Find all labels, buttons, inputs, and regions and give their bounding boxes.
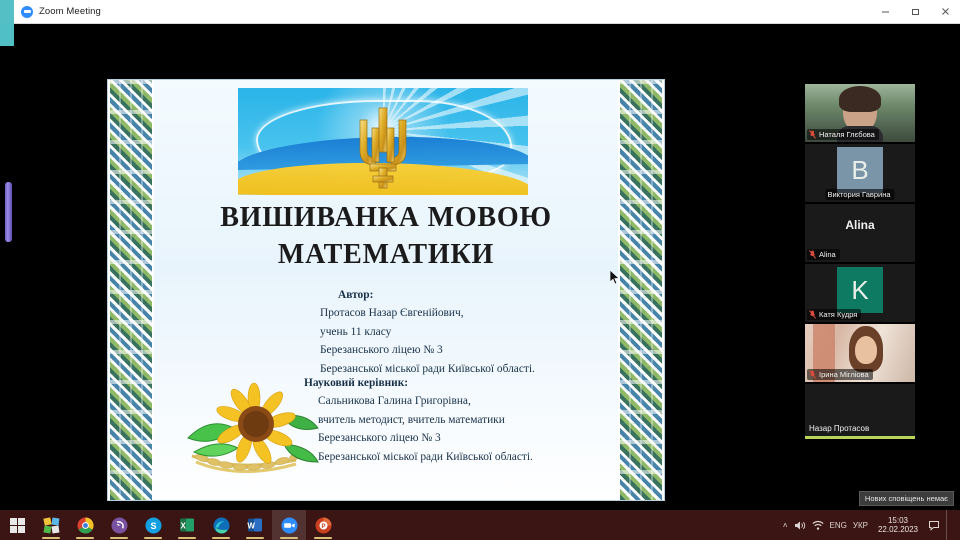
participant-display-name: Alina	[805, 204, 915, 254]
microphone-muted-icon	[809, 250, 816, 259]
minimize-button[interactable]	[870, 0, 900, 24]
participant-tile[interactable]: Наталя Глєбова	[805, 84, 915, 142]
zoom-meeting-window: Zoom Meeting	[0, 0, 960, 540]
system-tray: Нових сповіщень немає ˄ ENG УКР	[783, 510, 960, 540]
advisor-line: Березанської міської ради Київської обла…	[304, 448, 624, 466]
participant-thumbnail-strip[interactable]: Наталя Глєбова В Виктория Гаврина Alina	[805, 84, 915, 441]
microsoft-store-icon[interactable]	[34, 510, 68, 540]
meeting-stage: ВИШИВАНКА МОВОЮ МАТЕМАТИКИ Автор: Протас…	[0, 24, 960, 510]
participant-name: Катя Кудря	[819, 310, 857, 319]
microphone-muted-icon	[809, 370, 816, 379]
author-line: Протасов Назар Євгенійович,	[320, 304, 620, 322]
author-block: Автор: Протасов Назар Євгенійович, учень…	[320, 286, 620, 378]
svg-text:P: P	[321, 524, 325, 530]
skype-icon[interactable]: S	[136, 510, 170, 540]
participant-name-badge: Alina	[807, 249, 840, 260]
window-controls	[870, 0, 960, 24]
clock-time: 15:03	[878, 516, 918, 525]
slide-title-line-2: МАТЕМАТИКИ	[156, 237, 616, 274]
slide-title: ВИШИВАНКА МОВОЮ МАТЕМАТИКИ	[156, 200, 616, 274]
show-desktop-button[interactable]	[946, 510, 956, 540]
author-line: Березанського ліцею № 3	[320, 341, 620, 359]
notification-tooltip: Нових сповіщень немає	[859, 491, 954, 506]
participant-name-badge: Ірина Мігліова	[807, 369, 873, 380]
avatar-initial: K	[851, 275, 868, 306]
avatar-initial: В	[851, 155, 868, 186]
left-accent-rail	[0, 24, 14, 46]
participant-name-badge: Назар Протасов	[807, 423, 873, 434]
participant-name: Alina	[819, 250, 836, 259]
participant-name-badge: Катя Кудря	[807, 309, 861, 320]
svg-text:W: W	[247, 522, 255, 531]
language-indicator[interactable]: УКР	[853, 521, 868, 530]
powerpoint-icon[interactable]: P	[306, 510, 340, 540]
participant-tile[interactable]: Ірина Мігліова	[805, 324, 915, 382]
shared-screen-area[interactable]: ВИШИВАНКА МОВОЮ МАТЕМАТИКИ Автор: Протас…	[12, 56, 760, 480]
advisor-line: Сальникова Галина Григорівна,	[304, 392, 624, 410]
participant-tile[interactable]: K Катя Кудря	[805, 264, 915, 322]
author-line: учень 11 класу	[320, 323, 620, 341]
keyboard-layout-indicator[interactable]: ENG	[830, 521, 847, 530]
tray-overflow-button[interactable]: ˄	[783, 521, 788, 530]
viber-icon[interactable]	[102, 510, 136, 540]
vyshyvanka-embroidery-border-right	[618, 80, 664, 500]
wifi-icon[interactable]	[812, 520, 824, 531]
volume-icon[interactable]	[794, 520, 806, 531]
participant-tile[interactable]: Назар Протасов	[805, 384, 915, 439]
participant-name: Ірина Мігліова	[819, 370, 869, 379]
author-heading: Автор:	[320, 286, 620, 304]
participant-name-badge: Наталя Глєбова	[807, 129, 879, 140]
svg-text:X: X	[181, 522, 187, 531]
restore-button[interactable]	[900, 0, 930, 24]
google-chrome-icon[interactable]	[68, 510, 102, 540]
participant-name-badge: Виктория Гаврина	[825, 189, 894, 200]
advisor-heading: Науковий керівник:	[304, 374, 624, 392]
participant-tile[interactable]: Alina Alina	[805, 204, 915, 262]
microphone-muted-icon	[809, 310, 816, 319]
avatar: K	[837, 267, 883, 313]
windows-taskbar[interactable]: S X	[0, 510, 960, 540]
ukraine-map-tryzub-emblem	[238, 88, 528, 195]
window-titlebar: Zoom Meeting	[0, 0, 960, 24]
window-title: Zoom Meeting	[39, 6, 101, 17]
slide-title-line-1: ВИШИВАНКА МОВОЮ	[156, 200, 616, 237]
vyshyvanka-embroidery-border-left	[108, 80, 154, 500]
zoom-icon[interactable]	[272, 510, 306, 540]
word-icon[interactable]: W	[238, 510, 272, 540]
advisor-block: Науковий керівник: Сальникова Галина Гри…	[304, 374, 624, 466]
excel-icon[interactable]: X	[170, 510, 204, 540]
annotation-toolbar-handle[interactable]	[5, 182, 12, 242]
notification-icon[interactable]	[928, 520, 940, 531]
taskbar-clock[interactable]: 15:03 22.02.2023	[874, 516, 922, 534]
sunflower-wheat-decoration	[186, 382, 326, 492]
tryzub-icon	[352, 106, 414, 190]
svg-text:S: S	[150, 521, 156, 531]
titlebar-accent-strip	[0, 0, 14, 24]
close-button[interactable]	[930, 0, 960, 24]
participant-name: Наталя Глєбова	[819, 130, 875, 139]
avatar: В	[837, 147, 883, 193]
mouse-cursor	[610, 270, 620, 285]
clock-date: 22.02.2023	[878, 525, 918, 534]
participant-name: Виктория Гаврина	[827, 190, 890, 199]
participant-tile[interactable]: В Виктория Гаврина	[805, 144, 915, 202]
presentation-slide: ВИШИВАНКА МОВОЮ МАТЕМАТИКИ Автор: Протас…	[108, 80, 664, 500]
microsoft-edge-icon[interactable]	[204, 510, 238, 540]
windows-start-icon[interactable]	[0, 510, 34, 540]
participant-name: Назар Протасов	[809, 424, 869, 433]
taskbar-app-icons: S X	[0, 510, 340, 540]
zoom-icon	[21, 6, 33, 18]
advisor-line: Березанського ліцею № 3	[304, 429, 624, 447]
advisor-line: вчитель методист, вчитель математики	[304, 411, 624, 429]
microphone-muted-icon	[809, 130, 816, 139]
